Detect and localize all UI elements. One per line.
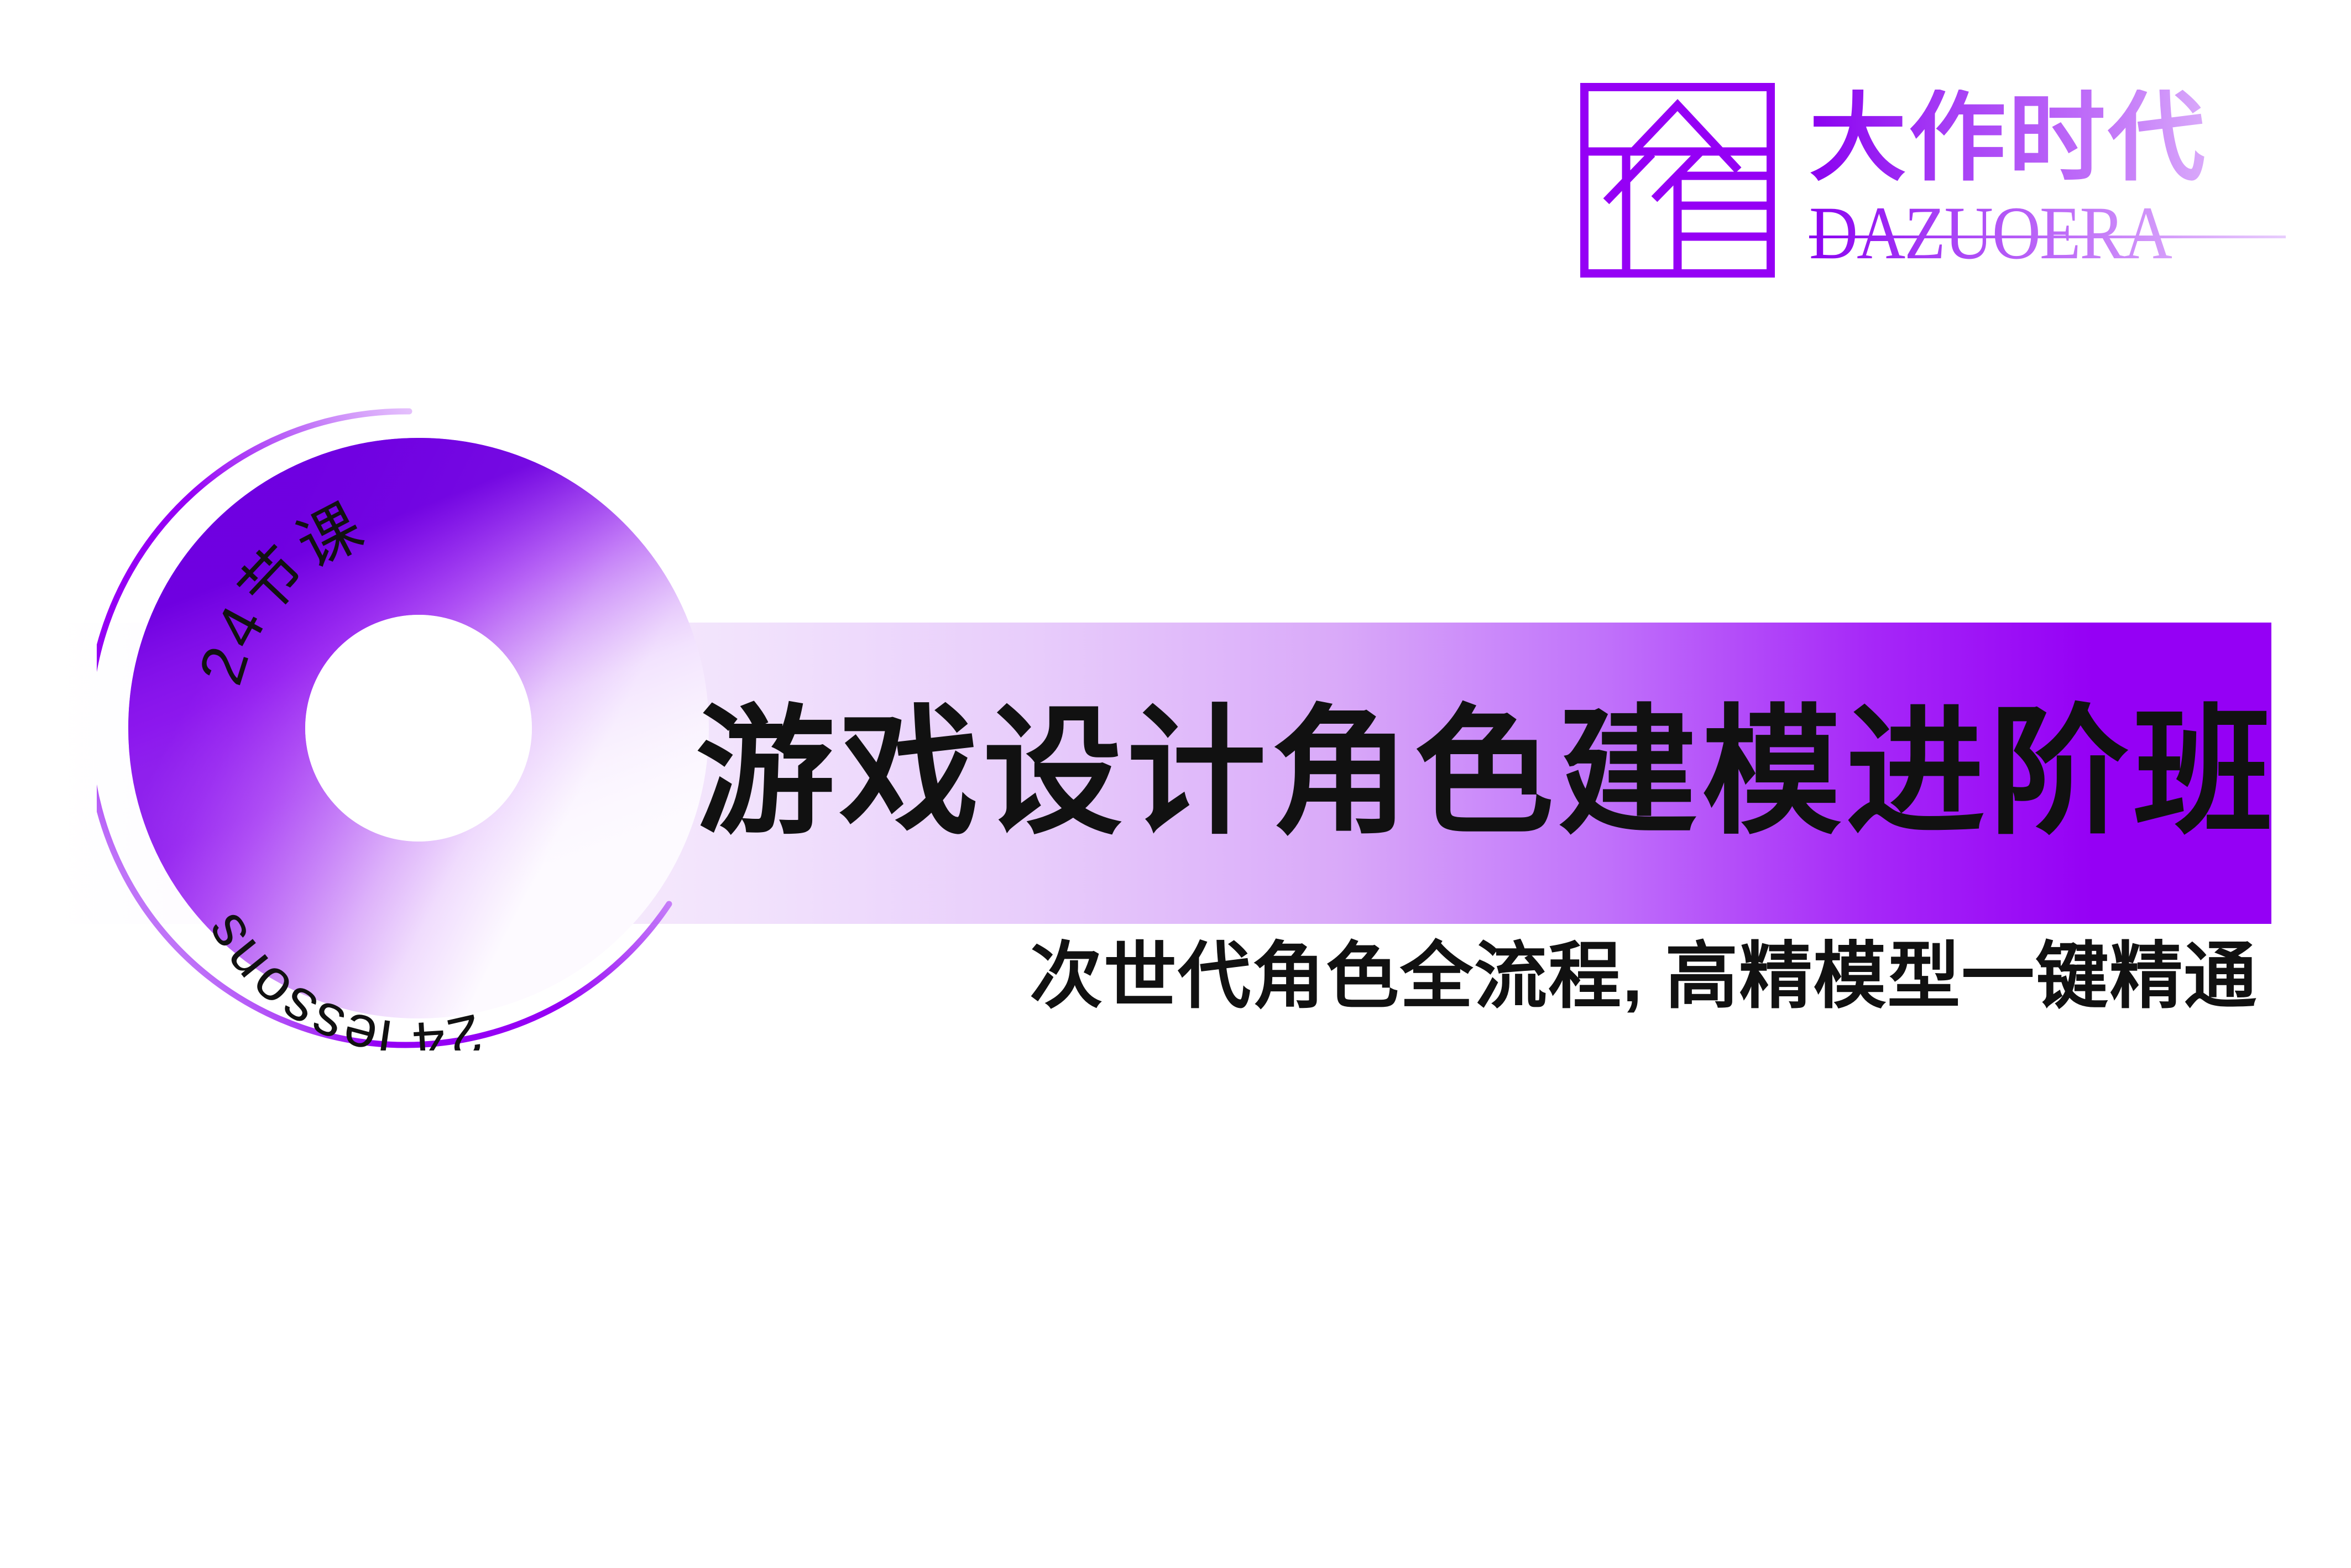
brand-strikethrough-line <box>1809 236 2286 238</box>
brand-logo[interactable]: 大作时代 DAZUOERA <box>1580 83 2310 293</box>
brand-wordmark: 大作时代 DAZUOERA <box>1809 83 2307 262</box>
brand-name-en: DAZUOERA <box>1809 196 2286 271</box>
page-title: 游戏设计角色建模进阶班 <box>696 651 2277 895</box>
lesson-count-ring-badge: 24节课 24 lessons <box>97 406 741 1050</box>
brand-name-cn: 大作时代 <box>1809 90 2307 187</box>
dazuo-square-logo-icon <box>1580 83 1775 278</box>
ring-center-hole <box>305 615 532 842</box>
page-subtitle: 次世代角色全流程, 高精模型一键精通 <box>1030 940 2258 1013</box>
